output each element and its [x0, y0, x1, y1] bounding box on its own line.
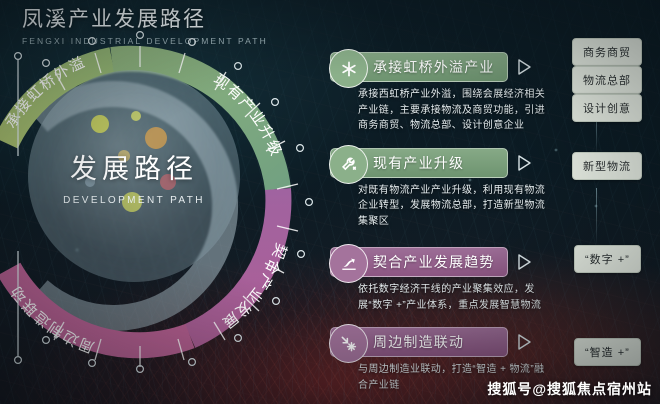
background-vignette: [0, 0, 660, 404]
watermark: 搜狐号@搜狐焦点宿州站: [487, 379, 652, 399]
infographic-stage: 凤溪产业发展路径 FENGXI INDUSTRIAL DEVELOPMENT P…: [0, 0, 660, 404]
